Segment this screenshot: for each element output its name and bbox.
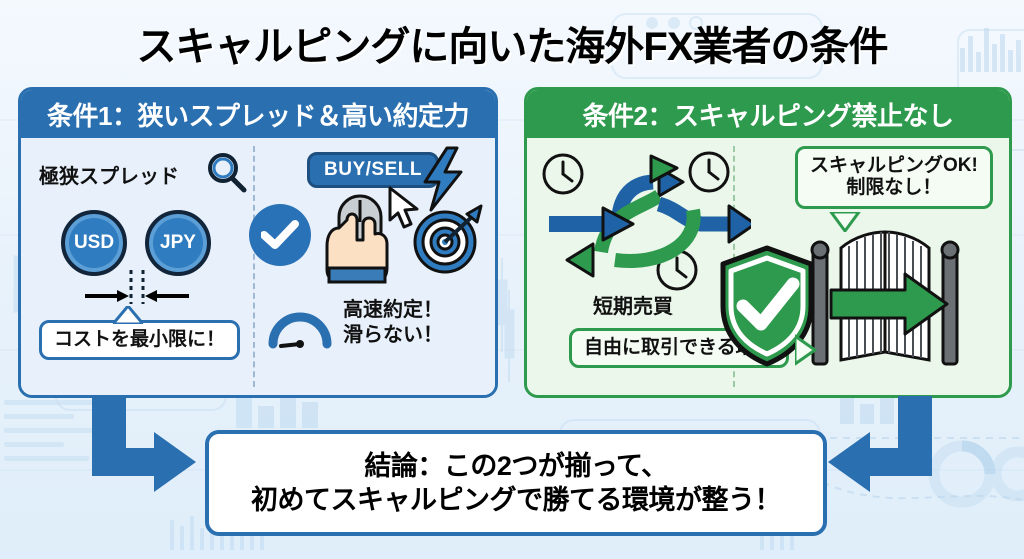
narrow-spread-label: 極狭スプレッド bbox=[39, 160, 179, 189]
condition-2-body: 短期売買 自由に取引できる環境 スキャルピングOK! 制限なし！ bbox=[527, 138, 1009, 395]
callout-pointer-icon bbox=[795, 334, 817, 366]
cost-callout: コストを最小限に！ bbox=[39, 320, 240, 360]
fast-execution-label: 高速約定！ 滑らない！ bbox=[343, 298, 443, 348]
elbow-arrow-right-icon bbox=[78, 396, 202, 506]
elbow-arrow-left-icon bbox=[822, 396, 946, 506]
coin-jpy: JPY bbox=[145, 210, 211, 276]
condition-1-body: 極狭スプレッド USD JPY コストを最小限に！ bbox=[21, 138, 495, 395]
callout-pointer-icon bbox=[829, 212, 861, 232]
magnifier-icon bbox=[205, 152, 249, 194]
fast-execution-line2: 滑らない！ bbox=[343, 323, 443, 348]
conclusion-line1: 結論：この2つが揃って、 bbox=[241, 449, 791, 483]
scalping-ok-line2: 制限なし！ bbox=[810, 177, 978, 199]
hand-mouse-icon bbox=[317, 194, 399, 286]
check-circle-icon bbox=[249, 204, 311, 266]
condition-1-panel: 条件1：狭いスプレッド＆高い約定力 極狭スプレッド USD JPY bbox=[18, 87, 498, 398]
condition-2-header: 条件2：スキャルピング禁止なし bbox=[527, 90, 1009, 138]
scalping-ok-callout: スキャルピングOK! 制限なし！ bbox=[795, 146, 993, 209]
infographic-canvas: スキャルピングに向いた海外FX業者の条件 条件1：狭いスプレッド＆高い約定力 極… bbox=[0, 0, 1024, 559]
fast-execution-line1: 高速約定！ bbox=[343, 298, 443, 323]
coin-usd: USD bbox=[61, 210, 127, 276]
callout-pointer-icon bbox=[113, 306, 143, 324]
condition-2-panel: 条件2：スキャルピング禁止なし bbox=[524, 87, 1012, 398]
condition-1-header: 条件1：狭いスプレッド＆高い約定力 bbox=[21, 90, 495, 138]
dartboard-icon bbox=[411, 200, 489, 276]
conclusion-box: 結論：この2つが揃って、 初めてスキャルピングで勝てる環境が整う！ bbox=[205, 430, 827, 536]
open-gate-icon bbox=[795, 226, 975, 372]
conclusion-line2: 初めてスキャルピングで勝てる環境が整う！ bbox=[241, 483, 791, 517]
short-term-trading-label: 短期売買 bbox=[593, 290, 673, 319]
panel-divider bbox=[253, 146, 255, 387]
gauge-icon bbox=[267, 306, 333, 352]
scalping-ok-line1: スキャルピングOK! bbox=[810, 155, 978, 177]
page-title: スキャルピングに向いた海外FX業者の条件 bbox=[0, 14, 1024, 72]
